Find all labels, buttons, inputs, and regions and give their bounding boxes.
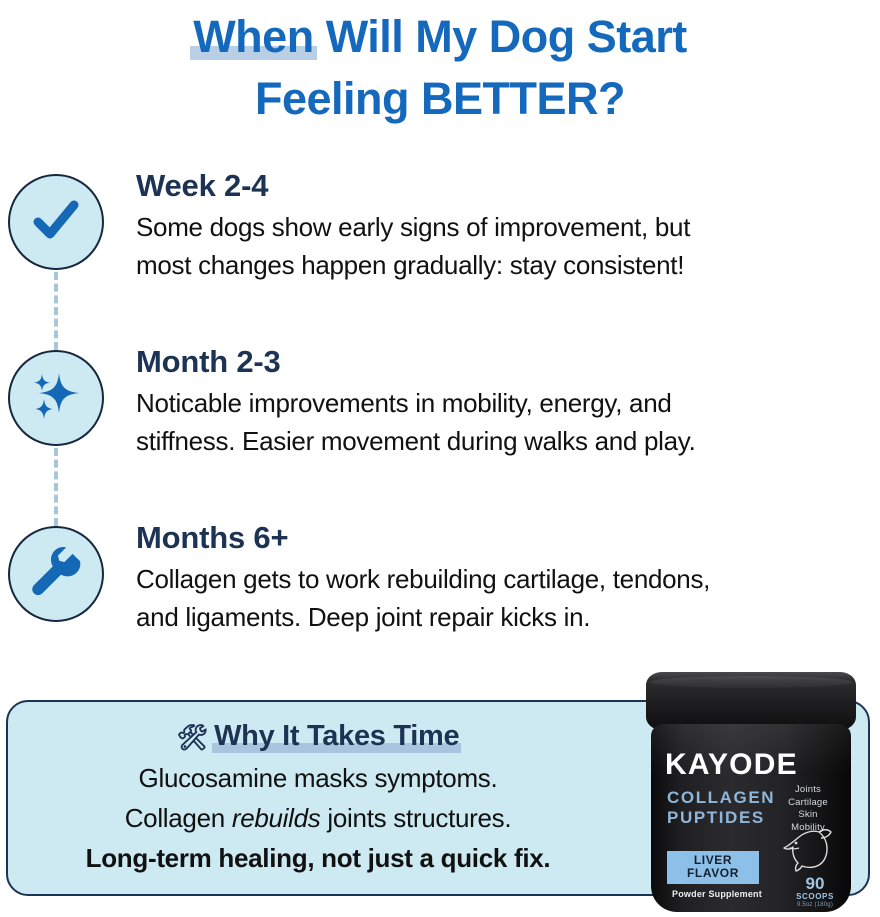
sparkles-icon [25,365,87,432]
dog-outline-icon [779,826,837,878]
callout-line-2-post: joints structures. [321,803,512,833]
callout-line-3: Long-term healing, not just a quick fix. [8,838,628,878]
flavor-line-2: FLAVOR [667,867,759,880]
step-icon-circle [8,526,104,622]
step-body-line-2: stiffness. Easier movement during walks … [136,422,870,460]
timeline-step-month-2-3: Month 2-3 Noticable improvements in mobi… [0,348,880,524]
title-line-2: Feeling BETTER? [0,68,880,130]
product-subtitle-line-2: PUPTIDES [667,808,765,828]
product-flavor-badge: LIVER FLAVOR [667,851,759,884]
timeline-step-week-2-4: Week 2-4 Some dogs show early signs of i… [0,172,880,348]
callout-title-text: Why It Takes Time [214,716,459,756]
product-scoops-label: SCOOPS [793,892,837,901]
title-highlight-when: When [193,6,313,68]
hammer-and-wrench-icon: 🛠 [177,724,208,752]
callout-content: 🛠Why It Takes Time Glucosamine masks sym… [8,702,628,878]
title-line-1-rest: Will My Dog Start [314,11,687,62]
callout-title: 🛠Why It Takes Time [8,716,628,758]
title-line-1: When Will My Dog Start [0,6,880,68]
step-heading: Month 2-3 [136,342,870,382]
timeline-connector [54,448,58,526]
step-icon-circle [8,174,104,270]
callout-line-2-emphasis: rebuilds [232,803,321,833]
jar-lid [646,672,856,730]
step-icon-circle [8,350,104,446]
callout-line-1: Glucosamine masks symptoms. [8,758,628,798]
step-body-line-1: Some dogs show early signs of improvemen… [136,208,870,246]
timeline-connector [54,272,58,350]
product-subtitle-line-1: COLLAGEN [667,788,775,808]
product-scoops-count: 90 [793,875,837,892]
product-brand: KAYODE [665,750,798,780]
wrench-icon [25,541,87,608]
product-form: Powder Supplement [667,889,767,899]
jar-body: KAYODE COLLAGEN PUPTIDES Joints Cartilag… [651,724,851,912]
callout-line-2-pre: Collagen [125,803,232,833]
step-body-line-2: and ligaments. Deep joint repair kicks i… [136,598,870,636]
step-body-line-2: most changes happen gradually: stay cons… [136,246,870,284]
step-heading: Week 2-4 [136,166,870,206]
step-body-line-1: Collagen gets to work rebuilding cartila… [136,560,870,598]
step-heading: Months 6+ [136,518,870,558]
step-text: Months 6+ Collagen gets to work rebuildi… [136,518,870,636]
product-jar-image: KAYODE COLLAGEN PUPTIDES Joints Cartilag… [632,672,870,917]
page-title: When Will My Dog Start Feeling BETTER? [0,6,880,130]
step-body-line-1: Noticable improvements in mobility, ener… [136,384,870,422]
step-text: Week 2-4 Some dogs show early signs of i… [136,166,870,284]
check-icon [25,189,87,256]
callout-line-2: Collagen rebuilds joints structures. [8,798,628,838]
step-text: Month 2-3 Noticable improvements in mobi… [136,342,870,460]
product-net-weight: 9.5oz (180g) [793,902,837,908]
timeline: Week 2-4 Some dogs show early signs of i… [0,172,880,700]
